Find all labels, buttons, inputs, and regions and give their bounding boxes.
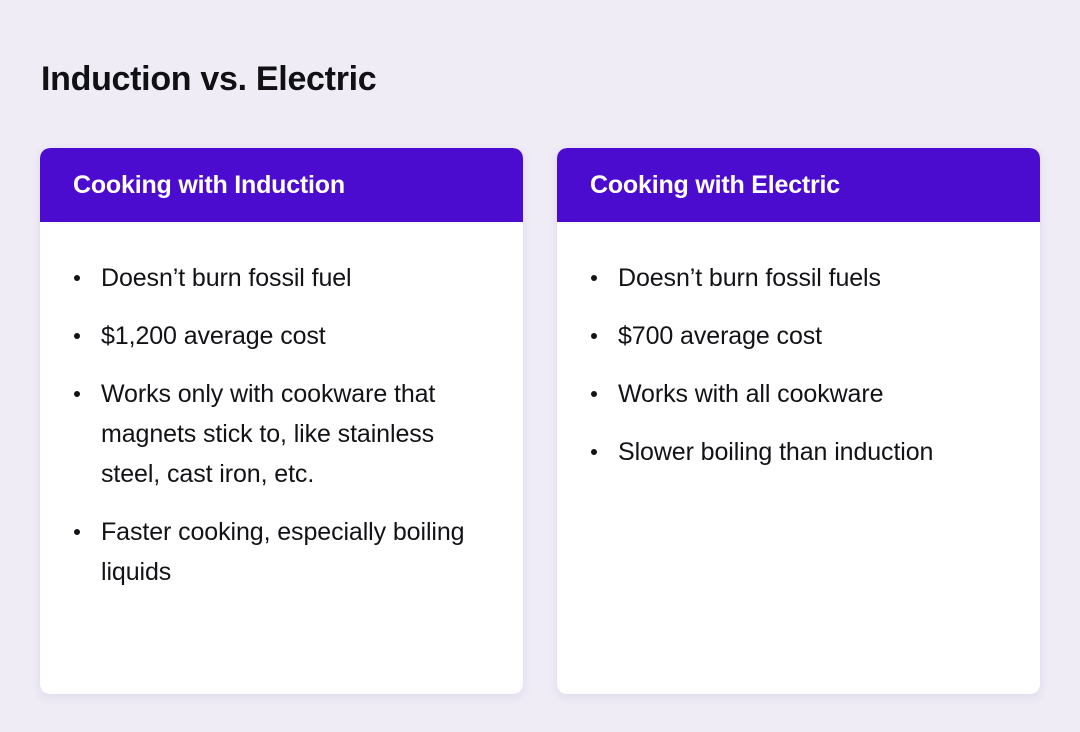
list-item: Doesn’t burn fossil fuels (587, 258, 1010, 298)
list-item: Doesn’t burn fossil fuel (70, 258, 493, 298)
list-item-label: Slower boiling than induction (618, 432, 1010, 472)
bullet-list-induction: Doesn’t burn fossil fuel $1,200 average … (70, 258, 493, 592)
bullet-dot-icon (591, 333, 597, 339)
list-item: $1,200 average cost (70, 316, 493, 356)
list-item: Slower boiling than induction (587, 432, 1010, 472)
list-item-label: Doesn’t burn fossil fuels (618, 258, 1010, 298)
list-item: Works with all cookware (587, 374, 1010, 414)
card-title-induction: Cooking with Induction (73, 171, 345, 200)
card-induction: Cooking with Induction Doesn’t burn foss… (40, 148, 523, 694)
bullet-dot-icon (74, 333, 80, 339)
page-title: Induction vs. Electric (41, 60, 376, 99)
comparison-cards: Cooking with Induction Doesn’t burn foss… (40, 148, 1040, 694)
comparison-graphic: Induction vs. Electric Cooking with Indu… (0, 0, 1080, 732)
list-item: $700 average cost (587, 316, 1010, 356)
card-body-induction: Doesn’t burn fossil fuel $1,200 average … (40, 222, 523, 694)
bullet-dot-icon (591, 391, 597, 397)
list-item-label: Works only with cookware that magnets st… (101, 374, 493, 494)
card-body-electric: Doesn’t burn fossil fuels $700 average c… (557, 222, 1040, 694)
card-title-electric: Cooking with Electric (590, 171, 840, 200)
bullet-dot-icon (74, 275, 80, 281)
list-item: Faster cooking, especially boiling liqui… (70, 512, 493, 592)
bullet-dot-icon (591, 275, 597, 281)
list-item-label: Faster cooking, especially boiling liqui… (101, 512, 493, 592)
card-header-induction: Cooking with Induction (40, 148, 523, 222)
bullet-dot-icon (591, 449, 597, 455)
list-item-label: $1,200 average cost (101, 316, 493, 356)
list-item-label: Works with all cookware (618, 374, 1010, 414)
bullet-list-electric: Doesn’t burn fossil fuels $700 average c… (587, 258, 1010, 472)
list-item-label: Doesn’t burn fossil fuel (101, 258, 493, 298)
card-electric: Cooking with Electric Doesn’t burn fossi… (557, 148, 1040, 694)
list-item-label: $700 average cost (618, 316, 1010, 356)
bullet-dot-icon (74, 529, 80, 535)
list-item: Works only with cookware that magnets st… (70, 374, 493, 494)
bullet-dot-icon (74, 391, 80, 397)
card-header-electric: Cooking with Electric (557, 148, 1040, 222)
